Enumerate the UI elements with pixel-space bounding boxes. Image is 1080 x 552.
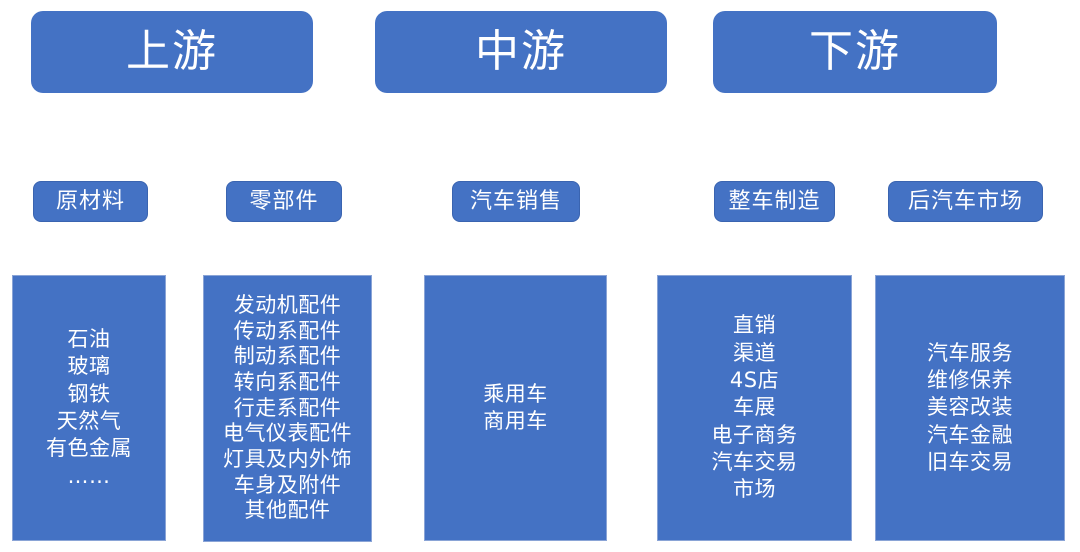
list-item: 电气仪表配件 — [206, 421, 369, 447]
list-item: 发动机配件 — [206, 293, 369, 319]
tier-label: 上游 — [126, 30, 218, 74]
content-box-components[interactable]: 发动机配件 传动系配件 制动系配件 转向系配件 行走系配件 电气仪表配件 灯具及… — [203, 275, 372, 542]
stage-label-raw-materials[interactable]: 原材料 — [33, 181, 148, 222]
stage-label-components[interactable]: 零部件 — [226, 181, 342, 222]
stage-label-text: 汽车销售 — [470, 191, 562, 213]
stage-label-text: 零部件 — [249, 191, 318, 213]
list-item: 钢铁 — [15, 381, 163, 408]
content-box-vehicle-manufacturing[interactable]: 直销 渠道 4S店 车展 电子商务 汽车交易 市场 — [657, 275, 852, 541]
list-item: 商用车 — [427, 408, 604, 435]
stage-label-auto-sales[interactable]: 汽车销售 — [452, 181, 580, 222]
list-item: 行走系配件 — [206, 396, 369, 422]
content-list: 汽车服务 维修保养 美容改装 汽车金融 旧车交易 — [878, 340, 1062, 476]
tier-label: 下游 — [809, 30, 901, 74]
list-item: 灯具及内外饰 — [206, 447, 369, 473]
list-item: 市场 — [660, 476, 849, 503]
list-item: …… — [15, 463, 163, 490]
list-item: 转向系配件 — [206, 370, 369, 396]
stage-label-text: 整车制造 — [728, 191, 820, 213]
stage-label-aftermarket[interactable]: 后汽车市场 — [888, 181, 1043, 222]
list-item: 4S店 — [660, 367, 849, 394]
list-item: 玻璃 — [15, 353, 163, 380]
tier-label: 中游 — [475, 30, 567, 74]
tier-box-midstream[interactable]: 中游 — [375, 11, 667, 93]
content-list: 乘用车 商用车 — [427, 381, 604, 436]
list-item: 美容改装 — [878, 394, 1062, 421]
list-item: 电子商务 — [660, 422, 849, 449]
diagram-canvas: 上游 中游 下游 原材料 零部件 汽车销售 整车制造 后汽车市场 石油 玻璃 钢… — [0, 0, 1080, 552]
list-item: 石油 — [15, 326, 163, 353]
content-list: 直销 渠道 4S店 车展 电子商务 汽车交易 市场 — [660, 312, 849, 503]
list-item: 维修保养 — [878, 367, 1062, 394]
tier-box-downstream[interactable]: 下游 — [713, 11, 997, 93]
list-item: 其他配件 — [206, 498, 369, 524]
list-item: 汽车服务 — [878, 340, 1062, 367]
tier-box-upstream[interactable]: 上游 — [31, 11, 313, 93]
list-item: 制动系配件 — [206, 344, 369, 370]
list-item: 直销 — [660, 312, 849, 339]
list-item: 传动系配件 — [206, 319, 369, 345]
content-list: 石油 玻璃 钢铁 天然气 有色金属 …… — [15, 326, 163, 490]
list-item: 有色金属 — [15, 435, 163, 462]
content-box-auto-sales[interactable]: 乘用车 商用车 — [424, 275, 607, 541]
list-item: 汽车金融 — [878, 422, 1062, 449]
stage-label-vehicle-manufacturing[interactable]: 整车制造 — [714, 181, 835, 222]
list-item: 车身及附件 — [206, 473, 369, 499]
content-list: 发动机配件 传动系配件 制动系配件 转向系配件 行走系配件 电气仪表配件 灯具及… — [206, 293, 369, 523]
list-item: 汽车交易 — [660, 449, 849, 476]
list-item: 渠道 — [660, 340, 849, 367]
stage-label-text: 后汽车市场 — [908, 191, 1023, 213]
list-item: 天然气 — [15, 408, 163, 435]
list-item: 旧车交易 — [878, 449, 1062, 476]
content-box-aftermarket[interactable]: 汽车服务 维修保养 美容改装 汽车金融 旧车交易 — [875, 275, 1065, 541]
stage-label-text: 原材料 — [56, 191, 125, 213]
content-box-raw-materials[interactable]: 石油 玻璃 钢铁 天然气 有色金属 …… — [12, 275, 166, 541]
list-item: 车展 — [660, 394, 849, 421]
list-item: 乘用车 — [427, 381, 604, 408]
